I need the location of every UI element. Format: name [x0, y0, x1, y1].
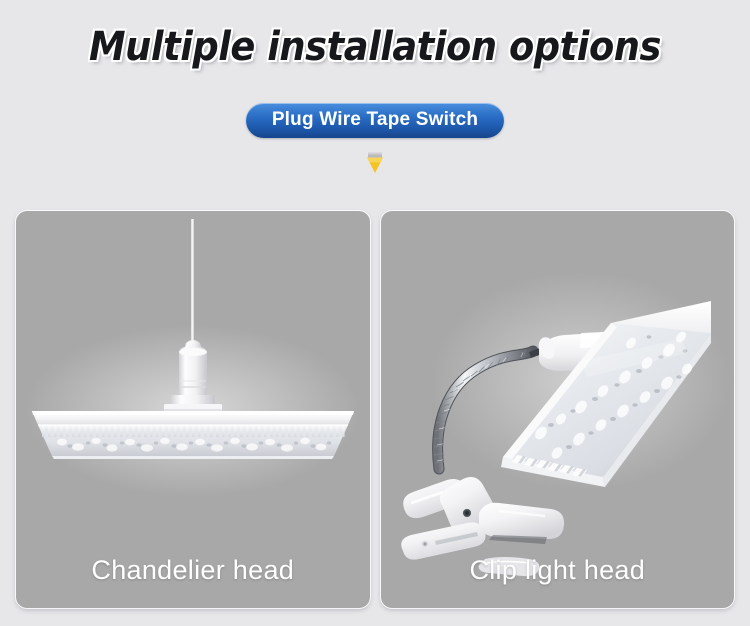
header-section: Multiple installation options Plug Wire …: [0, 0, 750, 200]
arrow-container: [0, 152, 750, 182]
panel-chandelier-head[interactable]: Chandelier head: [16, 211, 370, 608]
clip-on-gooseneck-led-panel-light-illustration: [381, 211, 735, 608]
panel-label-clip-light: Clip light head: [381, 555, 735, 586]
pendant-led-panel-light-illustration: [16, 211, 370, 608]
status-badge: Plug Wire Tape Switch: [246, 103, 504, 138]
chandelier-artwork: [16, 211, 370, 608]
panel-clip-light-head[interactable]: Clip light head: [381, 211, 735, 608]
clip-light-artwork: [381, 211, 735, 608]
panel-label-chandelier: Chandelier head: [16, 555, 370, 586]
page-title: Multiple installation options: [30, 24, 720, 70]
badge-container: Plug Wire Tape Switch: [0, 103, 750, 138]
installation-options-panels: Chandelier head: [16, 211, 734, 608]
chevron-down-icon: [364, 152, 386, 178]
